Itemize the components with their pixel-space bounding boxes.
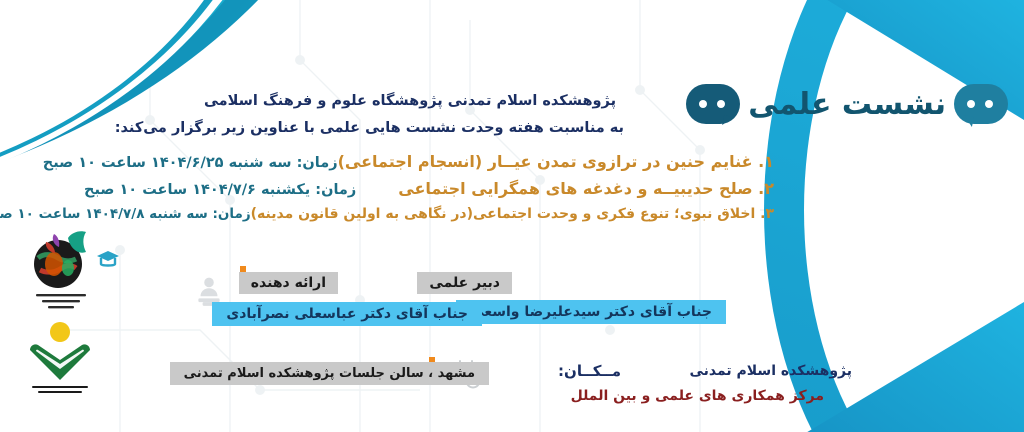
footer-center-name: مرکز همکاری های علمی و بین الملل <box>571 388 824 404</box>
organizer-header: پژوهشکده اسلام تمدنی پژوهشگاه علوم و فره… <box>204 88 624 142</box>
organizer-line-1: پژوهشکده اسلام تمدنی پژوهشگاه علوم و فره… <box>204 88 624 115</box>
presenter-name: جناب آقای دکتر سیدعلیرضا واسعی <box>456 300 726 324</box>
research-center-book-logo <box>22 320 98 398</box>
page-title: نشست علمی <box>748 87 946 122</box>
organizer-line-2: به مناسبت هفته وحدت نشست هایی علمی با عن… <box>204 115 624 142</box>
session-time: زمان: یکشنبه ۱۴۰۴/۷/۶ ساعت ۱۰ صبح <box>84 182 356 198</box>
session-title: ۲. صلح حدیبیــه و دغدغه های همگرایی اجتم… <box>398 179 774 198</box>
place-label: مــکــان: <box>558 362 621 380</box>
place-value: مشهد ، سالن جلسات پژوهشکده اسلام تمدنی <box>170 362 489 385</box>
session-list: ۱. غنایم حنین در ترازوی تمدن عیــار (انس… <box>84 152 774 230</box>
session-row: ۲. صلح حدیبیــه و دغدغه های همگرایی اجتم… <box>84 179 774 198</box>
secretary-label: دبیر علمی <box>417 272 512 294</box>
main-title-block: نشست علمی <box>686 84 1008 124</box>
footer-institute-name: پژوهشکده اسلام تمدنی <box>690 363 852 379</box>
institute-globe-logo <box>24 224 98 316</box>
session-title: ۳. اخلاق نبوی؛ تنوع فکری و وحدت اجتماعی(… <box>251 206 774 222</box>
session-time: زمان: سه شنبه ۱۴۰۴/۷/۸ ساعت ۱۰ صبح <box>0 206 251 222</box>
event-banner: نشست علمی پژوهشکده اسلام تمدنی پژوهشگاه … <box>0 0 1024 432</box>
session-time: زمان: سه شنبه ۱۴۰۴/۶/۲۵ ساعت ۱۰ صبح <box>43 155 338 171</box>
session-row: ۱. غنایم حنین در ترازوی تمدن عیــار (انس… <box>84 152 774 171</box>
session-row: ۳. اخلاق نبوی؛ تنوع فکری و وحدت اجتماعی(… <box>84 206 774 222</box>
session-title: ۱. غنایم حنین در ترازوی تمدن عیــار (انس… <box>338 152 774 171</box>
speech-bubble-icon-right <box>686 84 740 124</box>
secretary-name: جناب آقای دکتر عباسعلی نصرآبادی <box>212 302 482 326</box>
speech-bubble-icon-left <box>954 84 1008 124</box>
presenter-label: ارائه دهنده <box>239 272 338 294</box>
graduation-cap-icon <box>95 246 121 272</box>
